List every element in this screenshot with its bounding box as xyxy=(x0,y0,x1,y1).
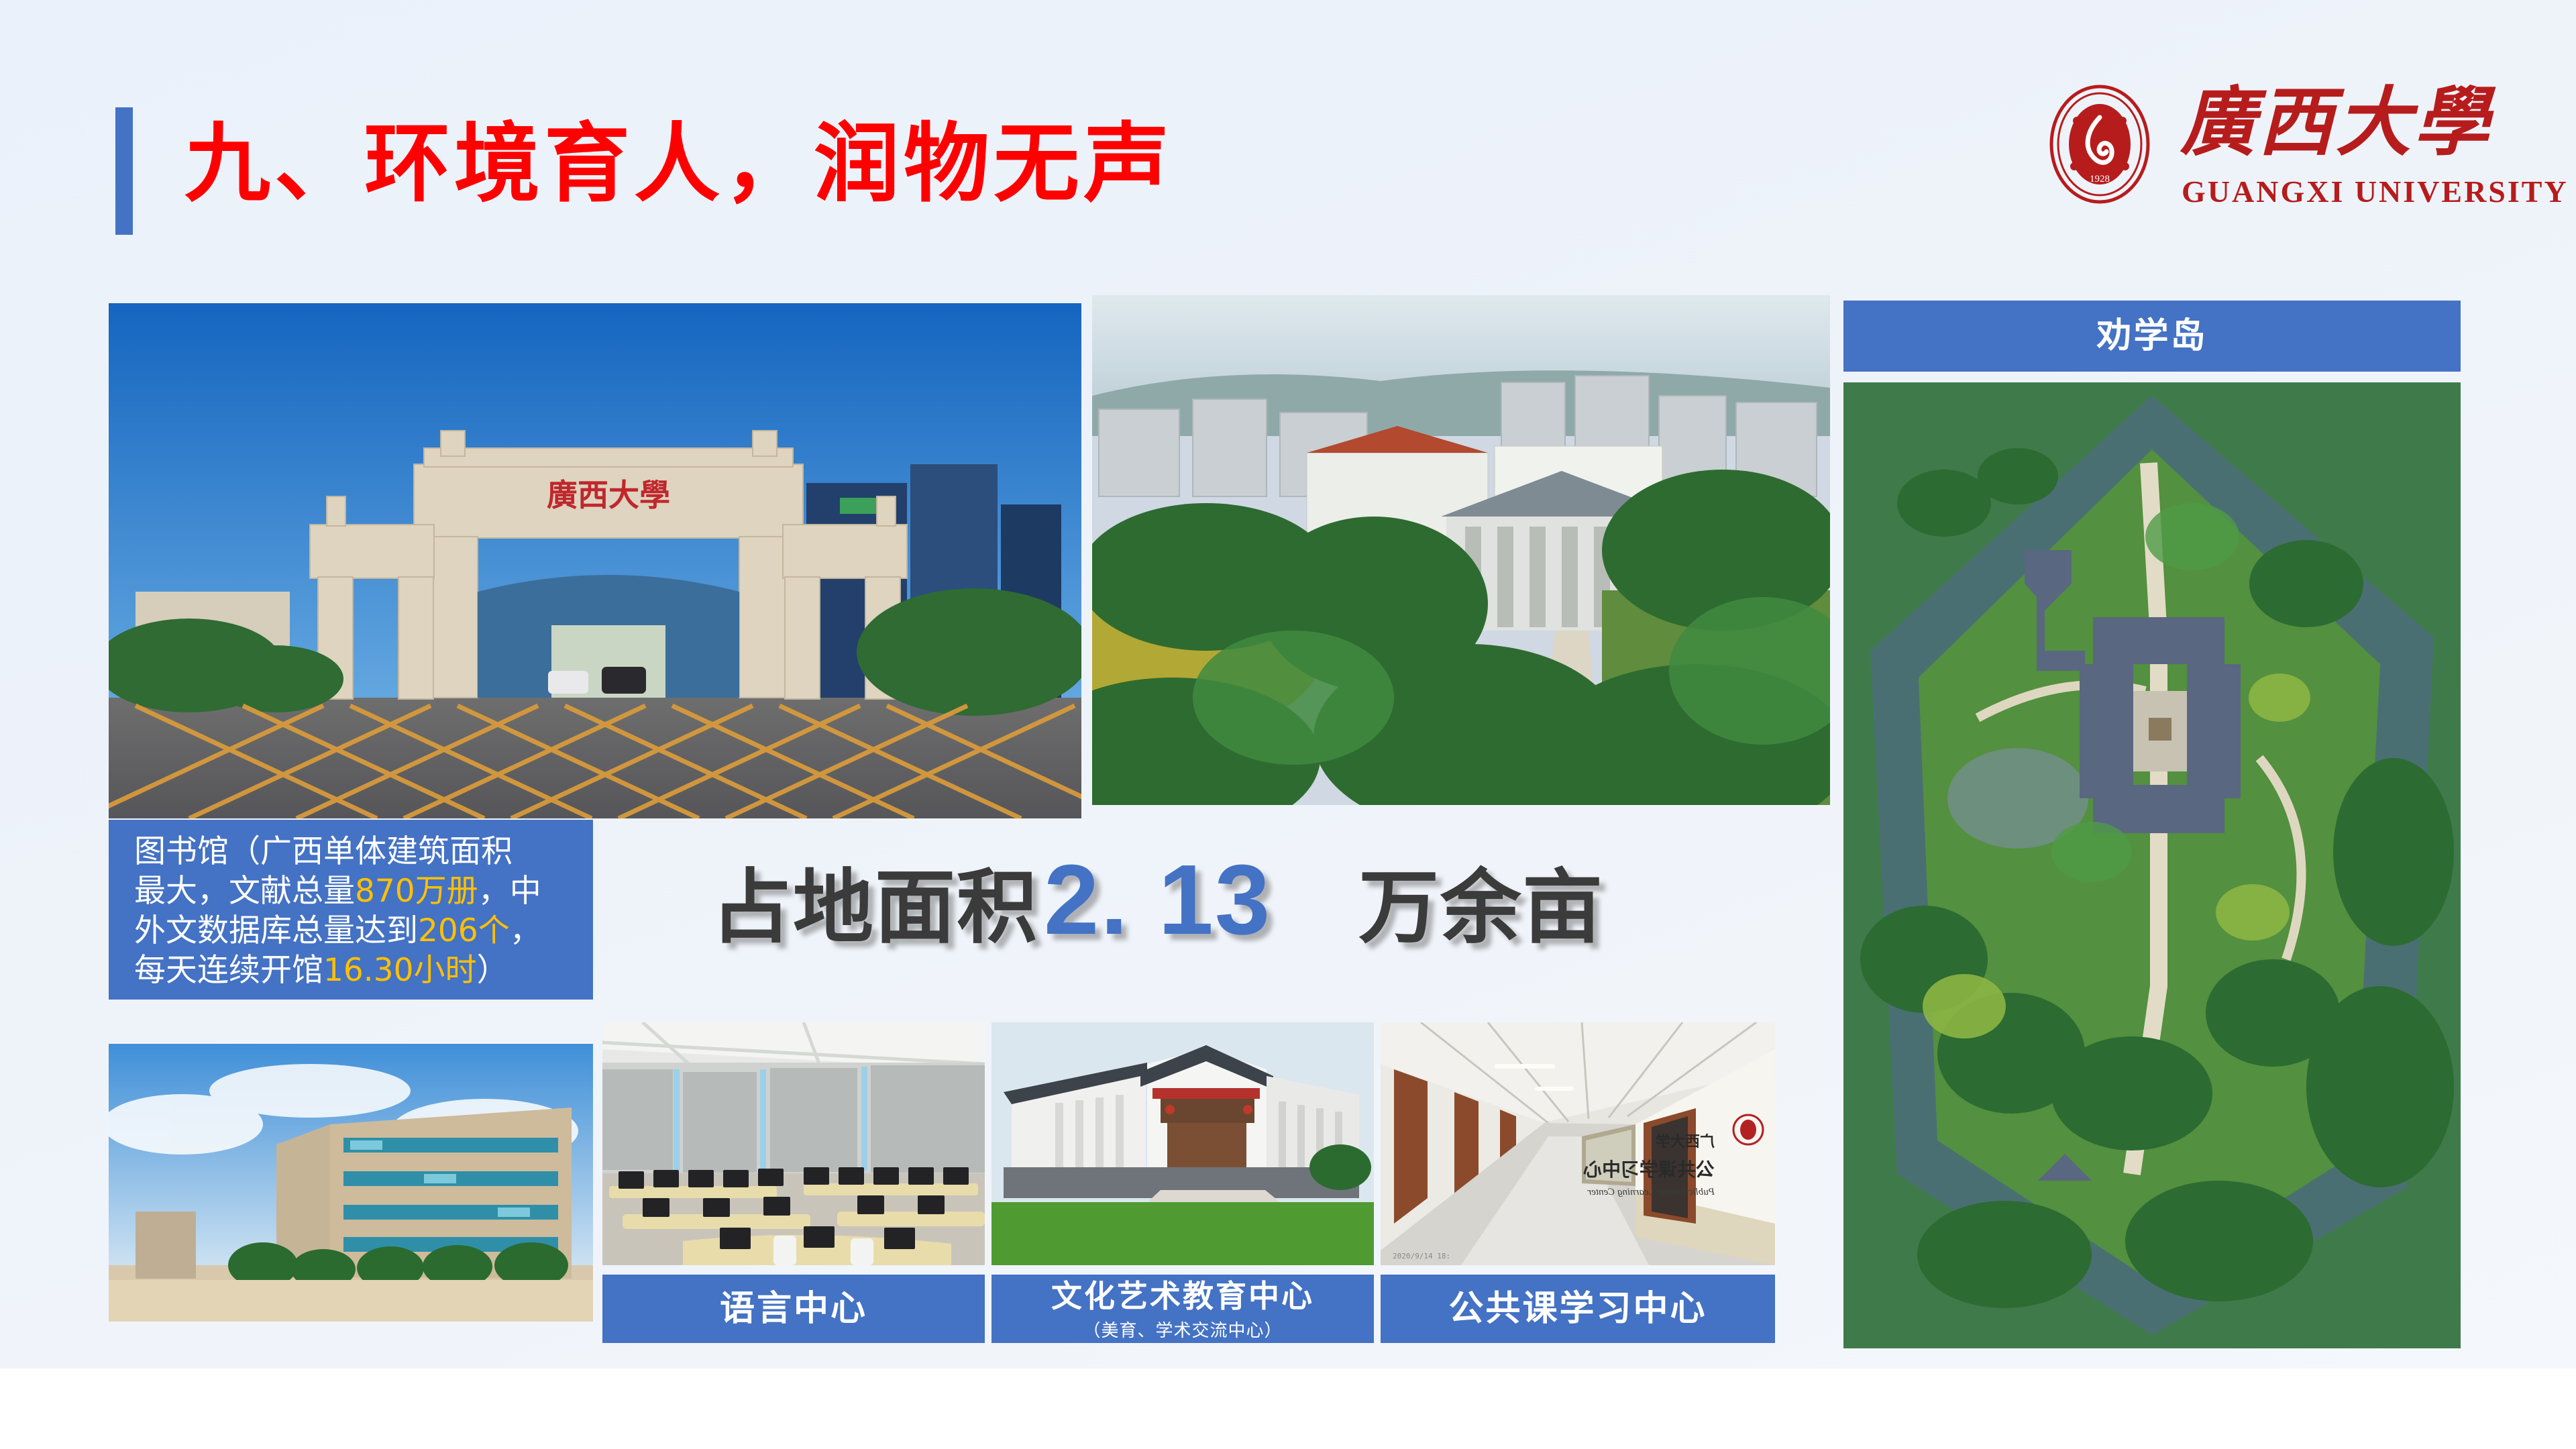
svg-text:1928: 1928 xyxy=(2090,174,2110,184)
svg-text:2020/9/14 18:: 2020/9/14 18: xyxy=(1393,1252,1450,1260)
library-info-open-hours: 16.30小时 xyxy=(323,952,477,989)
library-info-line-4: 每天连续开馆16.30小时） xyxy=(134,951,573,990)
photo-campus-aerial-junwu xyxy=(1092,295,1830,805)
slide-header: 九、环境育人，润物无声 1928 廣西大學 GUANGXI UNIVERSITY xyxy=(0,0,2576,268)
university-logo: 1928 廣西大學 GUANGXI UNIVERSITY xyxy=(2039,80,2469,208)
label-language-center: 语言中心 xyxy=(602,1275,985,1343)
photo-language-center-lab xyxy=(602,1022,985,1265)
svg-text:Public Course Learning Center: Public Course Learning Center xyxy=(1587,1187,1715,1197)
library-info-line-2: 最大，文献总量870万册，中 xyxy=(134,871,573,911)
photo-campus-main-gate: 廣西大學 xyxy=(109,303,1081,818)
label-quanxue-island: 劝学岛 xyxy=(1843,301,2461,372)
photo-public-course-corridor: 广西大学 公共课学习中心 Public Course Learning Cent… xyxy=(1381,1022,1775,1265)
campus-area-label: 占地面积 xyxy=(711,842,1038,959)
campus-area-stat: 占地面积 2. 13 万余亩 xyxy=(711,840,1851,961)
library-info-volumes: 870万册 xyxy=(355,873,478,910)
library-info-line3-b: ， xyxy=(510,912,541,949)
library-info-line4-a: 每天连续开馆 xyxy=(134,952,323,989)
university-seal-icon: 1928 xyxy=(2039,80,2160,208)
label-culture-center-main: 文化艺术教育中心 xyxy=(1051,1275,1314,1318)
photo-library-building xyxy=(109,1044,593,1322)
svg-text:公共课学习中心: 公共课学习中心 xyxy=(1583,1159,1715,1181)
library-info-databases: 206个 xyxy=(418,912,510,949)
photo-culture-art-building xyxy=(991,1022,1374,1265)
label-language-center-text: 语言中心 xyxy=(720,1287,867,1330)
library-info-line-3: 外文数据库总量达到206个， xyxy=(134,911,573,951)
logo-name-cn: 廣西大學 xyxy=(2180,72,2491,173)
library-info-box: 图书馆（广西单体建筑面积 最大，文献总量870万册，中 外文数据库总量达到206… xyxy=(109,820,593,1000)
library-info-line4-b: ） xyxy=(477,952,508,989)
label-culture-center-sub: （美育、学术交流中心） xyxy=(1083,1319,1282,1343)
label-culture-art-center: 文化艺术教育中心 （美育、学术交流中心） xyxy=(991,1275,1374,1343)
library-info-line-1: 图书馆（广西单体建筑面积 xyxy=(134,832,573,871)
svg-text:广西大学: 广西大学 xyxy=(1656,1133,1715,1150)
library-info-line2-b: ，中 xyxy=(478,873,541,910)
library-info-line2-a: 最大，文献总量 xyxy=(134,873,355,910)
label-island-text: 劝学岛 xyxy=(2096,315,2207,358)
photo-quanxue-island-aerial xyxy=(1843,382,2461,1348)
slide-canvas: 九、环境育人，润物无声 1928 廣西大學 GUANGXI UNIVERSITY xyxy=(0,0,2576,1368)
campus-area-value: 2. 13 xyxy=(1044,843,1271,957)
logo-name-en: GUANGXI UNIVERSITY xyxy=(2182,174,2569,209)
title-accent-bar xyxy=(115,107,133,235)
library-info-line3-a: 外文数据库总量达到 xyxy=(134,912,418,949)
label-public-course-center-text: 公共课学习中心 xyxy=(1448,1287,1707,1330)
page-title: 九、环境育人，润物无声 xyxy=(184,97,1173,231)
library-info-line1-a: 图书馆（广西单体建筑面积 xyxy=(134,833,513,870)
label-public-course-center: 公共课学习中心 xyxy=(1381,1275,1775,1343)
campus-area-unit: 万余亩 xyxy=(1358,842,1604,959)
svg-text:廣西大學: 廣西大學 xyxy=(547,477,670,513)
